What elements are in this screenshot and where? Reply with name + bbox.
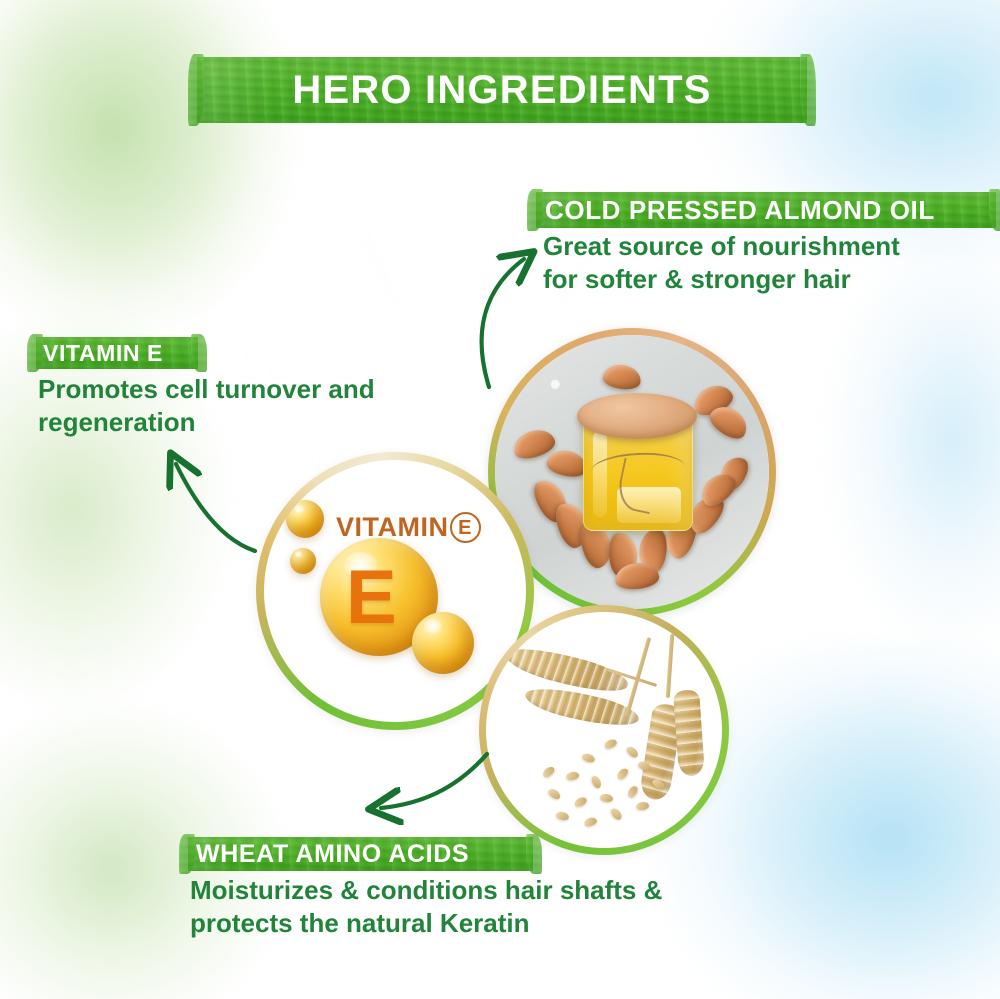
label-cold-pressed-almond-oil: COLD PRESSED ALMOND OIL xyxy=(536,192,996,228)
image-wheat-amino-acids xyxy=(479,605,729,855)
description-vitamin-e: Promotes cell turnover and regeneration xyxy=(38,373,418,439)
curved-arrow-up-left-icon xyxy=(176,464,255,551)
curved-arrow-down-left-icon xyxy=(381,754,487,808)
description-cold-pressed-almond-oil: Great source of nourishment for softer &… xyxy=(543,230,973,296)
vitamin-word: VITAMIN xyxy=(336,512,449,543)
description-wheat-amino-acids: Moisturizes & conditions hair shafts & p… xyxy=(190,874,710,940)
infographic-canvas: HERO INGREDIENTS xyxy=(0,0,1000,999)
vitamin-circled-letter: E xyxy=(450,512,481,543)
vitamin-e-badge: VITAMINE xyxy=(336,512,481,543)
vitamin-droplet-small xyxy=(412,612,474,674)
watercolor-wash-left xyxy=(0,250,240,770)
label-wheat-amino-acids: WHEAT AMINO ACIDS xyxy=(188,837,533,871)
vitamin-droplet-tiny xyxy=(290,548,316,574)
label-vitamin-e: VITAMIN E xyxy=(36,337,198,369)
vitamin-droplet-top xyxy=(286,500,324,538)
vitamin-droplet-letter: E xyxy=(346,560,397,636)
page-title: HERO INGREDIENTS xyxy=(197,57,807,123)
oil-jar-lid xyxy=(577,393,697,439)
